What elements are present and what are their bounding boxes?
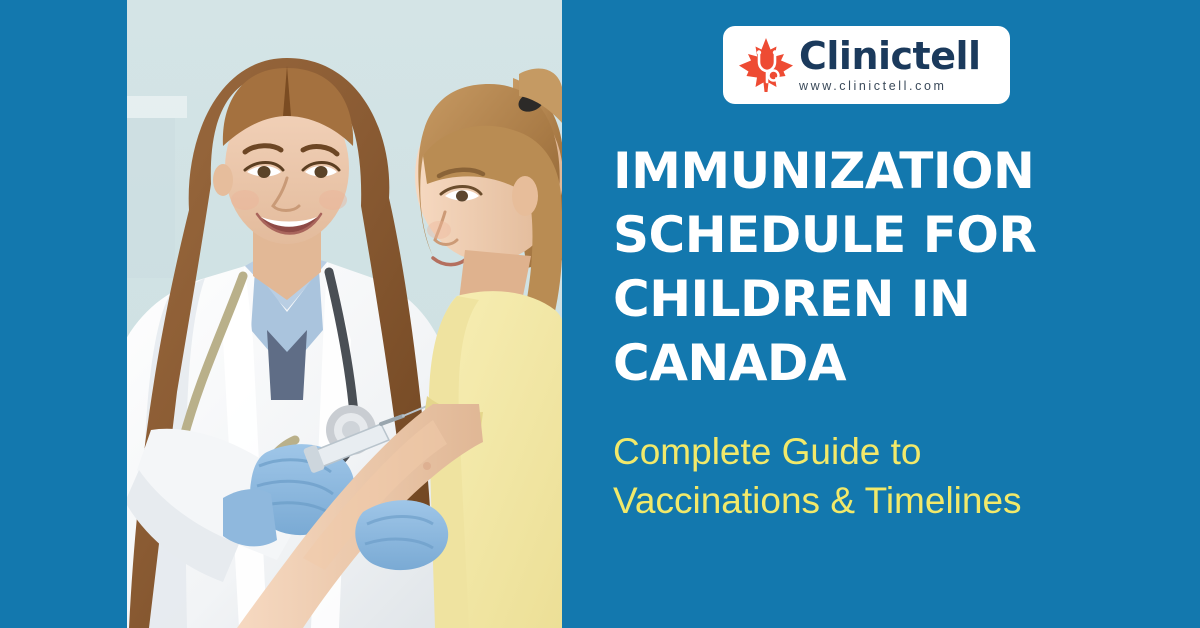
page-subtitle: Complete Guide to Vaccinations & Timelin… — [613, 427, 1193, 525]
content-panel: Clinictell www.clinictell.com IMMUNIZATI… — [562, 0, 1200, 628]
page-title: IMMUNIZATION SCHEDULE FOR CHILDREN IN CA… — [613, 139, 1183, 395]
subtitle-line-1: Complete Guide to — [613, 427, 1193, 476]
headline-line-4: CANADA — [613, 331, 1183, 395]
headline-line-2: SCHEDULE FOR — [613, 203, 1183, 267]
hero-photo — [127, 0, 562, 628]
doctor-vaccinating-child-illustration — [127, 0, 562, 628]
brand-url: www.clinictell.com — [799, 80, 981, 93]
headline-line-3: CHILDREN IN — [613, 267, 1183, 331]
banner: Clinictell www.clinictell.com IMMUNIZATI… — [0, 0, 1200, 628]
brand-name: Clinictell — [799, 37, 981, 75]
brand-logo-card[interactable]: Clinictell www.clinictell.com — [723, 26, 1010, 104]
subtitle-line-2: Vaccinations & Timelines — [613, 476, 1193, 525]
maple-leaf-stethoscope-icon — [735, 34, 797, 96]
logo-text-group: Clinictell www.clinictell.com — [799, 37, 981, 93]
headline-line-1: IMMUNIZATION — [613, 139, 1183, 203]
